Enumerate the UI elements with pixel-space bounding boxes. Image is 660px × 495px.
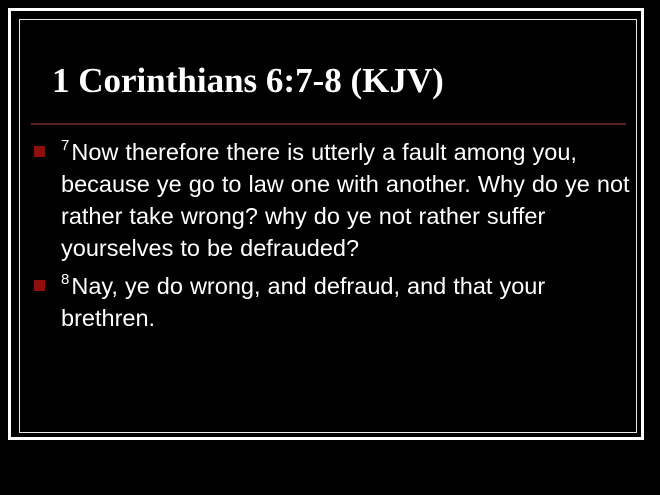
verse-text: Nay, ye do wrong, and defraud, and that … <box>61 273 545 331</box>
square-bullet-icon <box>34 146 45 157</box>
list-item: 7Now therefore there is utterly a fault … <box>31 136 631 264</box>
verse-list: 7Now therefore there is utterly a fault … <box>31 136 631 340</box>
presentation-slide: 1 Corinthians 6:7-8 (KJV) 7Now therefore… <box>0 0 660 495</box>
verse-body: 7Now therefore there is utterly a fault … <box>61 136 631 264</box>
list-item: 8Nay, ye do wrong, and defraud, and that… <box>31 270 631 334</box>
verse-number: 7 <box>61 137 71 154</box>
verse-number: 8 <box>61 271 71 288</box>
square-bullet-icon <box>34 280 45 291</box>
verse-body: 8Nay, ye do wrong, and defraud, and that… <box>61 270 631 334</box>
verse-text: Now therefore there is utterly a fault a… <box>61 139 630 261</box>
slide-title: 1 Corinthians 6:7-8 (KJV) <box>52 60 612 102</box>
title-divider-rule <box>31 123 626 125</box>
